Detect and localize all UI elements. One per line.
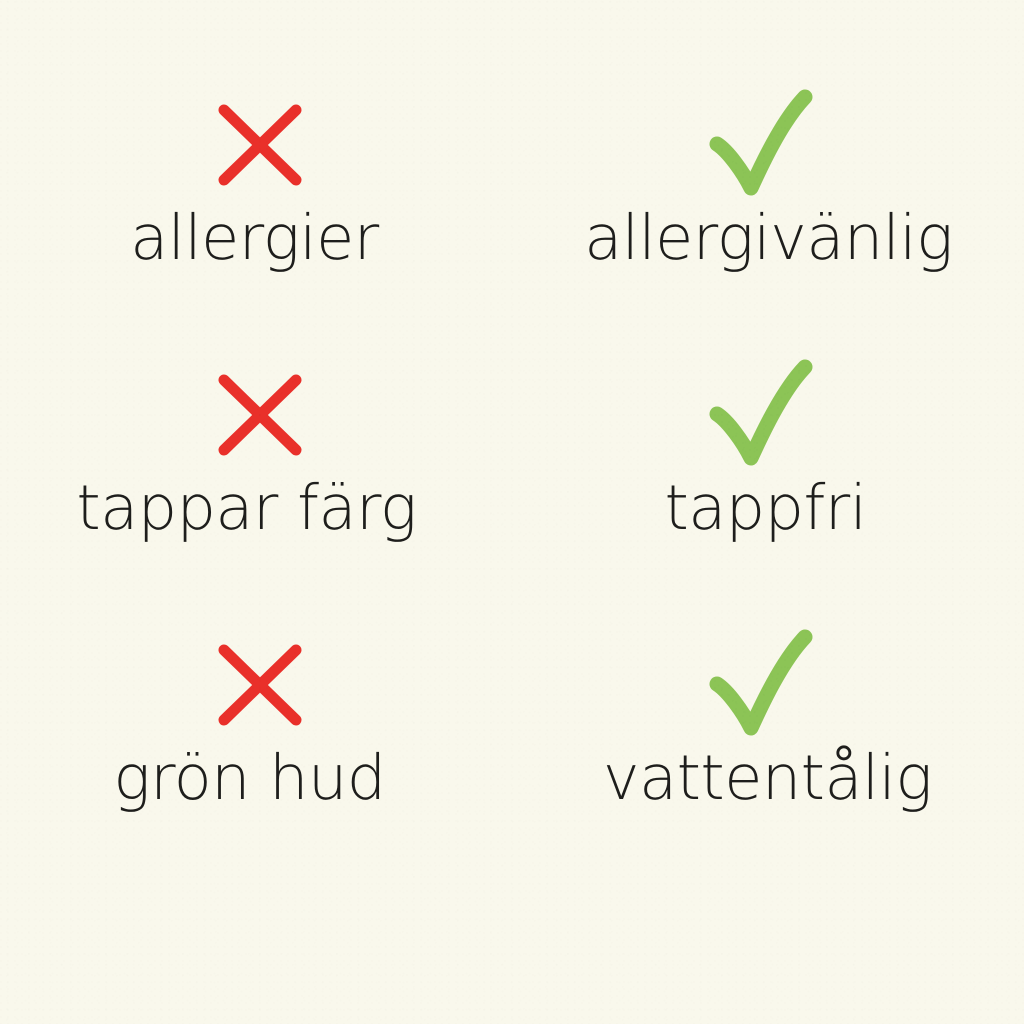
comparison-item-positive-2: tappfri [515,356,1024,626]
comparison-grid: allergier allergivänlig tappar färg [0,0,1024,1024]
comparison-label: vattentålig [603,746,932,810]
comparison-label: allergier [130,206,379,270]
comparison-label: tappar färg [76,476,416,540]
cross-icon [217,356,303,474]
comparison-label: grön hud [113,746,385,810]
comparison-label: tappfri [664,476,866,540]
bottom-spacer [0,896,1024,1024]
comparison-board: allergier allergivänlig tappar färg [0,0,1024,1024]
comparison-item-negative-3: grön hud [0,626,515,896]
comparison-item-positive-3: vattentålig [515,626,1024,896]
check-icon [710,626,814,744]
comparison-item-negative-2: tappar färg [0,356,515,626]
comparison-label: allergivänlig [584,206,953,270]
check-icon [710,356,814,474]
comparison-item-negative-1: allergier [0,86,515,356]
comparison-item-positive-1: allergivänlig [515,86,1024,356]
check-icon [710,86,814,204]
top-spacer [0,0,1024,86]
cross-icon [217,626,303,744]
cross-icon [217,86,303,204]
